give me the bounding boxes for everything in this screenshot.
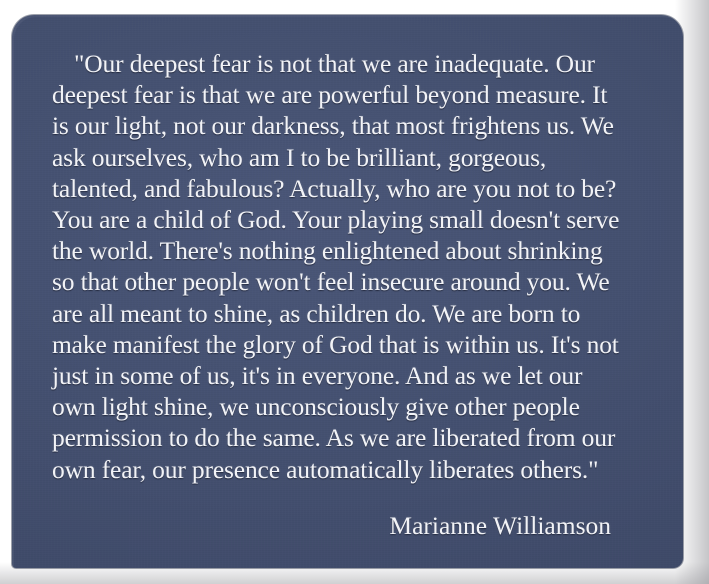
quote-line: make manifest the glory of God that is w… bbox=[52, 329, 652, 360]
quote-image-canvas: "Our deepest fear is not that we are ina… bbox=[0, 0, 709, 584]
quote-line: "Our deepest fear is not that we are ina… bbox=[52, 48, 652, 79]
quote-card: "Our deepest fear is not that we are ina… bbox=[12, 15, 683, 568]
quote-line: are all meant to shine, as children do. … bbox=[52, 298, 652, 329]
quote-line: You are a child of God. Your playing sma… bbox=[52, 204, 652, 235]
quote-line: own fear, our presence automatically lib… bbox=[52, 454, 652, 485]
quote-line: talented, and fabulous? Actually, who ar… bbox=[52, 173, 652, 204]
quote-line: just in some of us, it's in everyone. An… bbox=[52, 360, 652, 391]
quote-line: deepest fear is that we are powerful bey… bbox=[52, 79, 652, 110]
quote-line: permission to do the same. As we are lib… bbox=[52, 422, 652, 453]
quote-text-block: "Our deepest fear is not that we are ina… bbox=[52, 48, 652, 485]
quote-line: the world. There's nothing enlightened a… bbox=[52, 235, 652, 266]
quote-line: so that other people won't feel insecure… bbox=[52, 266, 652, 297]
quote-attribution: Marianne Williamson bbox=[389, 510, 611, 541]
quote-line: own light shine, we unconsciously give o… bbox=[52, 391, 652, 422]
quote-line: ask ourselves, who am I to be brilliant,… bbox=[52, 142, 652, 173]
quote-line: is our light, not our darkness, that mos… bbox=[52, 110, 652, 141]
